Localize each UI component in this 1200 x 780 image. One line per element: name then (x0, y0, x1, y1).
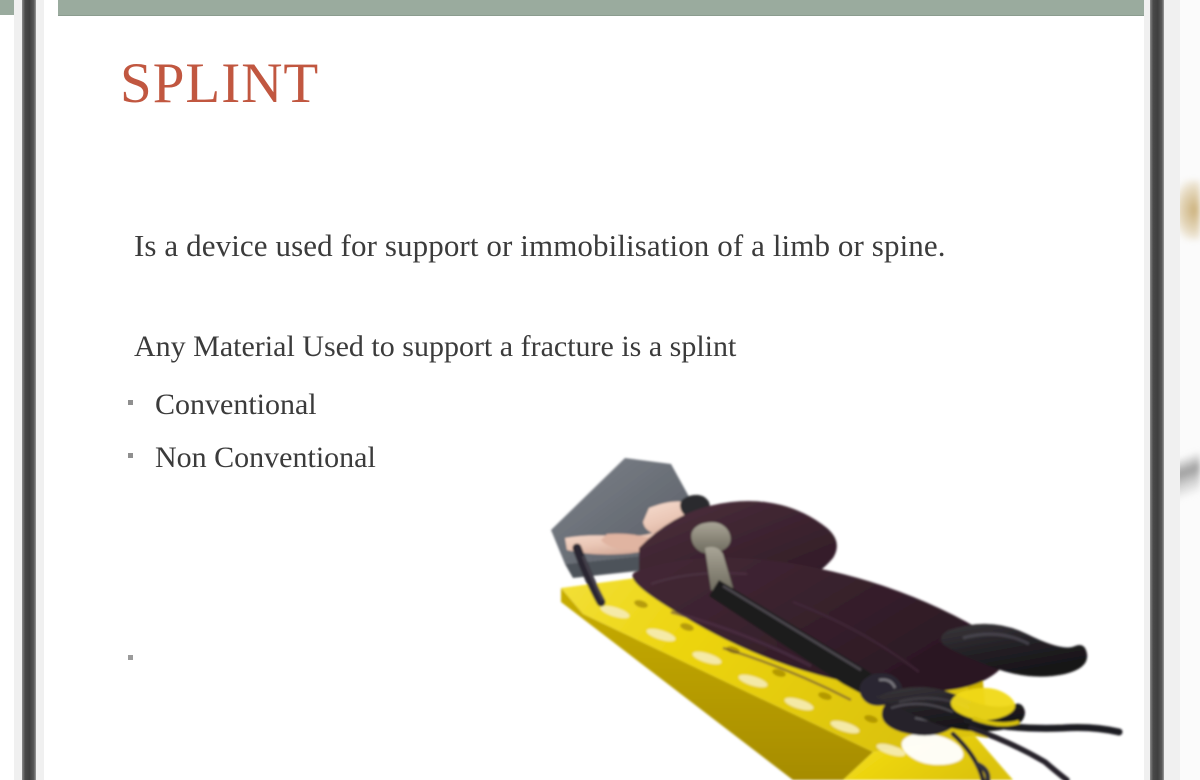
list-item: Conventional (128, 388, 317, 422)
page-title: SPLINT (120, 54, 319, 114)
presentation-slide[interactable]: SPLINT Is a device used for support or i… (58, 0, 1144, 780)
left-splitter-handle[interactable] (22, 0, 36, 780)
peek-thumbnail-warm (1180, 180, 1200, 240)
lead-paragraph: Is a device used for support or immobili… (134, 228, 946, 264)
sub-heading: Any Material Used to support a fracture … (134, 330, 736, 364)
bullet-dot-icon (128, 453, 133, 458)
spine-board-photo (543, 452, 1143, 780)
adjacent-content-peek (1180, 0, 1200, 780)
peek-thumbnail-gray (1180, 440, 1200, 510)
scrollbar-thumb[interactable] (1150, 0, 1164, 780)
list-item-label: Non Conventional (155, 441, 376, 475)
screen-viewport: SPLINT Is a device used for support or i… (0, 0, 1200, 780)
list-item-label: Conventional (155, 388, 317, 422)
bullet-dot-icon (128, 400, 133, 405)
bullet-dot-icon (128, 655, 133, 660)
list-item-empty (128, 655, 155, 660)
vertical-scrollbar[interactable] (1144, 0, 1180, 780)
left-splitter-gutter[interactable] (14, 0, 44, 780)
slide-accent-band (58, 0, 1144, 16)
spine-board-illustration (543, 452, 1143, 780)
list-item: Non Conventional (128, 441, 376, 475)
